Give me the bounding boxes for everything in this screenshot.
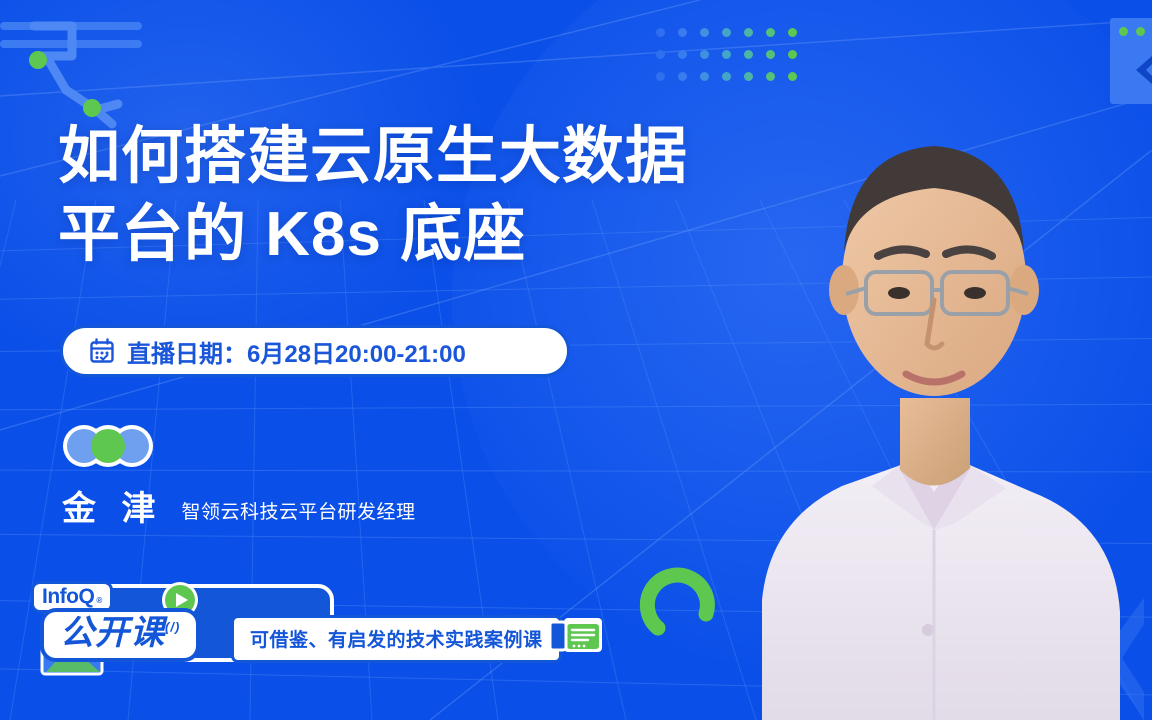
arc-icon — [636, 556, 720, 640]
document-icon — [548, 614, 604, 658]
live-date-pill[interactable]: 直播日期：6月28日20:00-21:00 — [60, 325, 570, 377]
three-circles-logo — [62, 424, 154, 468]
page-title: 如何搭建云原生大数据 平台的 K8s 底座 — [58, 118, 878, 273]
joint-dot — [83, 99, 101, 117]
poster-canvas: 如何搭建云原生大数据 平台的 K8s 底座 直播日期：6月28日20:00-21… — [0, 0, 1152, 720]
calendar-icon — [89, 338, 115, 364]
course-tagline: 可借鉴、有启发的技术实践案例课 — [234, 618, 559, 660]
double-chevron-left-icon — [1028, 580, 1152, 720]
infoq-logo: InfoQ ® — [34, 584, 110, 610]
infoq-trademark: ® — [96, 597, 102, 605]
live-date-text: 直播日期：6月28日20:00-21:00 — [127, 334, 466, 369]
headline-line-1: 如何搭建云原生大数据 — [58, 122, 688, 191]
top-right-panel — [1110, 18, 1152, 104]
infoq-logo-text: InfoQ — [42, 586, 94, 607]
speaker-title: 智领云科技云平台研发经理 — [181, 503, 415, 526]
course-label: 公开课(/) — [44, 612, 196, 658]
panel-dots — [1119, 27, 1145, 36]
speaker-name: 金 津 — [62, 492, 163, 526]
course-label-sup: (/) — [165, 620, 180, 635]
chevron-left-icon — [1122, 50, 1152, 90]
headline-line-2: 平台的 K8s 底座 — [58, 196, 878, 274]
dot-grid-decoration — [650, 22, 804, 88]
joint-dot — [29, 51, 47, 69]
course-label-text: 公开课 — [60, 614, 165, 652]
speaker-info: 金 津 智领云科技云平台研发经理 — [62, 492, 415, 526]
